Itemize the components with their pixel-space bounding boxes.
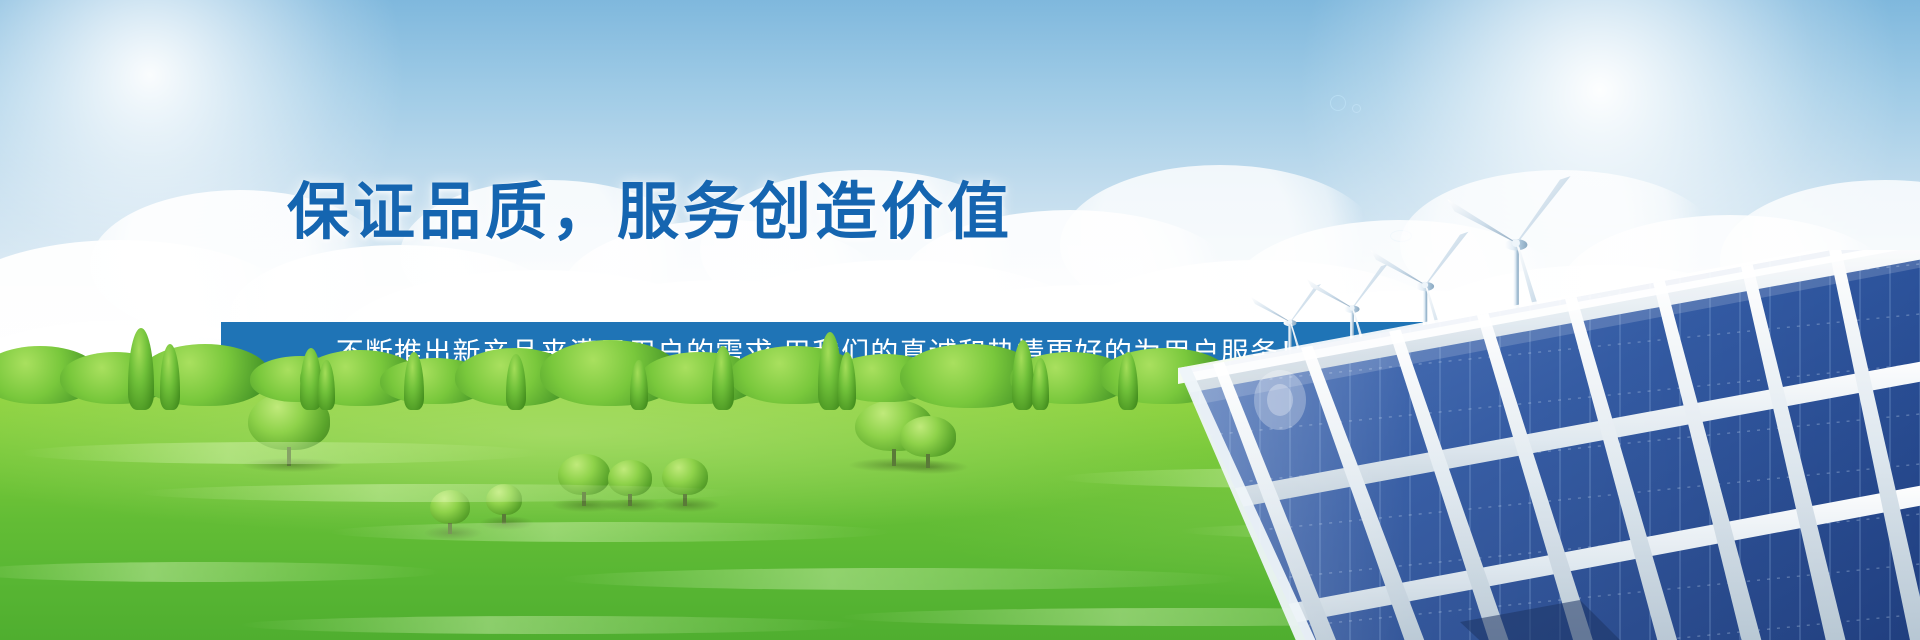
grass-stripe xyxy=(330,522,890,542)
tree-trunk xyxy=(892,449,896,466)
tree xyxy=(430,490,470,534)
tree-canopy xyxy=(900,416,956,457)
tree-canopy xyxy=(486,484,522,515)
grass-stripe xyxy=(240,616,860,634)
tree-canopy xyxy=(558,454,610,495)
solar-panel-array xyxy=(1160,250,1920,640)
tree xyxy=(608,460,652,506)
tree-trunk xyxy=(287,447,291,466)
tree xyxy=(486,484,522,524)
tree-canopy xyxy=(662,458,708,495)
grass-stripe xyxy=(560,568,1240,590)
grass-stripe xyxy=(0,562,440,582)
tree xyxy=(900,416,956,468)
tree xyxy=(662,458,708,506)
tree-trunk xyxy=(628,494,632,506)
lens-flare-icon xyxy=(1330,95,1346,111)
tree-trunk xyxy=(683,494,687,506)
tree-canopy xyxy=(608,460,652,496)
page-title: 保证品质，服务创造价值 xyxy=(0,178,1300,247)
tree-trunk xyxy=(502,514,506,524)
sun-glow-left-icon xyxy=(0,0,410,300)
cypress-tree xyxy=(1012,340,1034,410)
tree-trunk xyxy=(582,492,586,506)
tree-trunk xyxy=(448,523,452,534)
tree-trunk xyxy=(926,454,930,468)
lens-flare-icon xyxy=(1390,230,1412,242)
tree-canopy xyxy=(430,490,470,524)
lens-flare-icon xyxy=(1352,104,1361,113)
hero-banner: 保证品质，服务创造价值 不断推出新产品来满足用户的需求,用我们的真诚和热情更好的… xyxy=(0,0,1920,640)
cypress-tree xyxy=(128,328,154,410)
tree xyxy=(558,454,610,506)
